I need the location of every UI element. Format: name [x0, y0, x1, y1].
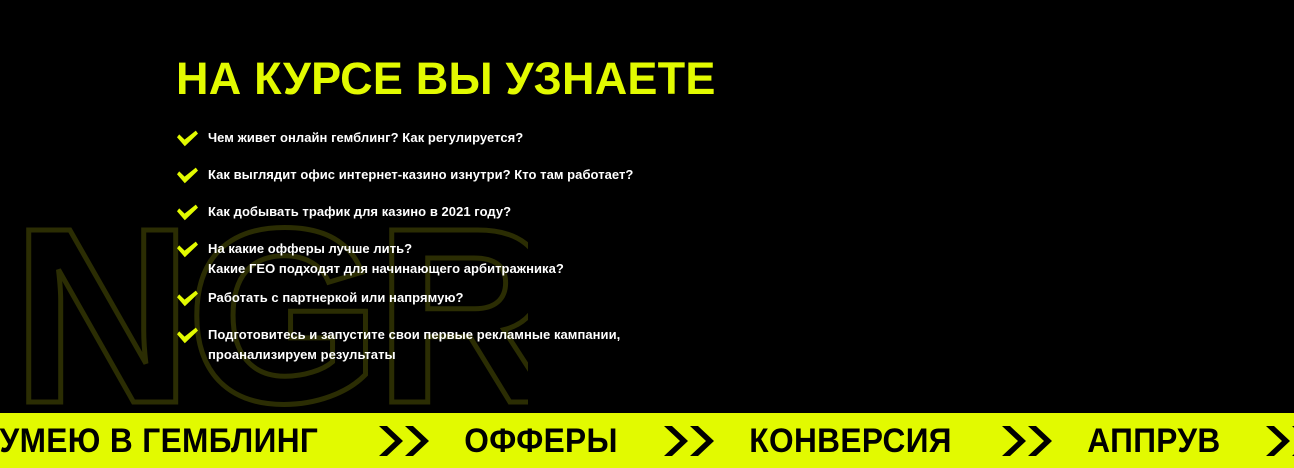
- list-item-label: Чем живет онлайн гемблинг? Как регулируе…: [208, 128, 523, 148]
- benefit-list: Чем живет онлайн гемблинг? Как регулируе…: [176, 128, 936, 365]
- ticker-item: КОНВЕРСИЯ: [740, 424, 961, 458]
- check-icon: [176, 327, 199, 344]
- check-icon: [176, 290, 199, 307]
- list-item: Как выглядит офис интернет-казино изнутр…: [176, 165, 936, 185]
- list-item-label: Работать с партнеркой или напрямую?: [208, 288, 464, 308]
- list-item-label: Как добывать трафик для казино в 2021 го…: [208, 202, 511, 222]
- double-chevron-right-icon: [355, 424, 455, 458]
- ticker-item: ОФФЕРЫ: [455, 424, 627, 458]
- ticker-item: Я УМЕЮ В ГЕМБЛИНГ: [0, 424, 328, 458]
- page-title: НА КУРСЕ ВЫ УЗНАЕТЕ: [176, 56, 716, 102]
- list-item: На какие офферы лучше лить? Какие ГЕО по…: [176, 239, 936, 279]
- check-icon: [176, 204, 199, 221]
- check-icon: [176, 130, 199, 147]
- double-chevron-right-icon: [1242, 424, 1294, 458]
- list-item-label: Подготовитесь и запустите свои первые ре…: [208, 325, 620, 365]
- list-item: Чем живет онлайн гемблинг? Как регулируе…: [176, 128, 936, 148]
- double-chevron-right-icon: [978, 424, 1078, 458]
- list-item-label: На какие офферы лучше лить? Какие ГЕО по…: [208, 239, 564, 279]
- check-icon: [176, 241, 199, 258]
- list-item: Подготовитесь и запустите свои первые ре…: [176, 325, 936, 365]
- double-chevron-right-icon: [640, 424, 740, 458]
- ticker-bar: Я УМЕЮ В ГЕМБЛИНГ ОФФЕРЫ КОНВЕРСИЯ: [0, 413, 1294, 468]
- list-item-label: Как выглядит офис интернет-казино изнутр…: [208, 165, 633, 185]
- list-item: Как добывать трафик для казино в 2021 го…: [176, 202, 936, 222]
- check-icon: [176, 167, 199, 184]
- list-item: Работать с партнеркой или напрямую?: [176, 288, 936, 308]
- ticker-item: АППРУВ: [1078, 424, 1230, 458]
- promo-section: NGR НА КУРСЕ ВЫ УЗНАЕТЕ Чем живет онлайн…: [0, 0, 1294, 468]
- ticker-track: Я УМЕЮ В ГЕМБЛИНГ ОФФЕРЫ КОНВЕРСИЯ: [0, 424, 1294, 458]
